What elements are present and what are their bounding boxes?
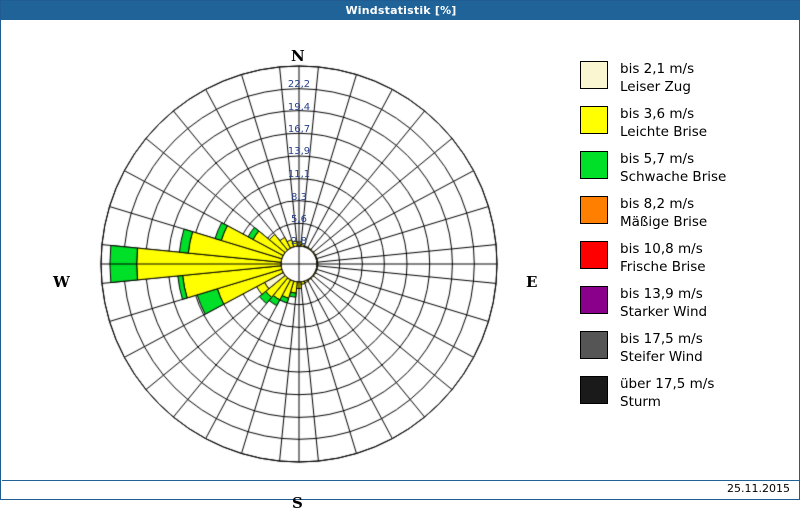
legend-item-text: bis 13,9 m/sStarker Wind (620, 285, 707, 321)
legend-speed-range: bis 13,9 m/s (620, 286, 703, 302)
compass-label-east: E (526, 273, 537, 291)
legend-beaufort-name: Frische Brise (620, 258, 706, 276)
windrose-window: Windstatistik [%] N E S W 2,85,68,311,11… (0, 0, 800, 500)
legend-item: über 17,5 m/sSturm (580, 375, 795, 411)
radial-tick-label: 19,4 (279, 102, 319, 113)
legend-item-text: über 17,5 m/sSturm (620, 375, 714, 411)
compass-label-north: N (291, 47, 305, 65)
radial-tick-label: 8,3 (279, 192, 319, 203)
legend-item-text: bis 5,7 m/sSchwache Brise (620, 150, 726, 186)
legend-beaufort-name: Starker Wind (620, 303, 707, 321)
legend-beaufort-name: Mäßige Brise (620, 213, 707, 231)
legend-beaufort-name: Sturm (620, 393, 714, 411)
chart-plot-area: N E S W 2,85,68,311,113,916,719,422,2 bi… (2, 20, 799, 480)
radial-tick-label: 2,8 (279, 236, 319, 247)
legend-speed-range: bis 5,7 m/s (620, 151, 694, 167)
legend-beaufort-name: Leiser Zug (620, 78, 694, 96)
footer-divider (2, 480, 799, 481)
window-title: Windstatistik [%] (345, 4, 456, 17)
legend-item-text: bis 2,1 m/sLeiser Zug (620, 60, 694, 96)
legend-item-text: bis 3,6 m/sLeichte Brise (620, 105, 707, 141)
legend-item: bis 2,1 m/sLeiser Zug (580, 60, 795, 96)
legend-color-swatch (580, 331, 608, 359)
legend-color-swatch (580, 376, 608, 404)
legend-beaufort-name: Leichte Brise (620, 123, 707, 141)
radial-tick-label: 11,1 (279, 169, 319, 180)
legend-color-swatch (580, 286, 608, 314)
legend-item-text: bis 8,2 m/sMäßige Brise (620, 195, 707, 231)
radial-tick-label: 22,2 (279, 79, 319, 90)
radial-tick-label: 16,7 (279, 124, 319, 135)
legend-color-swatch (580, 61, 608, 89)
legend-item: bis 13,9 m/sStarker Wind (580, 285, 795, 321)
radial-tick-label: 13,9 (279, 146, 319, 157)
legend-item: bis 8,2 m/sMäßige Brise (580, 195, 795, 231)
legend-speed-range: über 17,5 m/s (620, 376, 714, 392)
legend-speed-range: bis 10,8 m/s (620, 241, 703, 257)
legend: bis 2,1 m/sLeiser Zugbis 3,6 m/sLeichte … (580, 60, 795, 420)
legend-item: bis 17,5 m/sSteifer Wind (580, 330, 795, 366)
legend-color-swatch (580, 196, 608, 224)
legend-item: bis 3,6 m/sLeichte Brise (580, 105, 795, 141)
legend-item-text: bis 10,8 m/sFrische Brise (620, 240, 706, 276)
legend-beaufort-name: Schwache Brise (620, 168, 726, 186)
window-titlebar: Windstatistik [%] (1, 1, 800, 20)
legend-speed-range: bis 17,5 m/s (620, 331, 703, 347)
legend-color-swatch (580, 241, 608, 269)
radial-tick-label: 5,6 (279, 214, 319, 225)
compass-label-south: S (292, 494, 303, 512)
legend-item: bis 10,8 m/sFrische Brise (580, 240, 795, 276)
legend-item: bis 5,7 m/sSchwache Brise (580, 150, 795, 186)
legend-speed-range: bis 3,6 m/s (620, 106, 694, 122)
legend-speed-range: bis 8,2 m/s (620, 196, 694, 212)
legend-color-swatch (580, 106, 608, 134)
compass-label-west: W (53, 273, 70, 291)
legend-item-text: bis 17,5 m/sSteifer Wind (620, 330, 703, 366)
legend-speed-range: bis 2,1 m/s (620, 61, 694, 77)
legend-color-swatch (580, 151, 608, 179)
date-stamp: 25.11.2015 (727, 482, 790, 495)
legend-beaufort-name: Steifer Wind (620, 348, 703, 366)
